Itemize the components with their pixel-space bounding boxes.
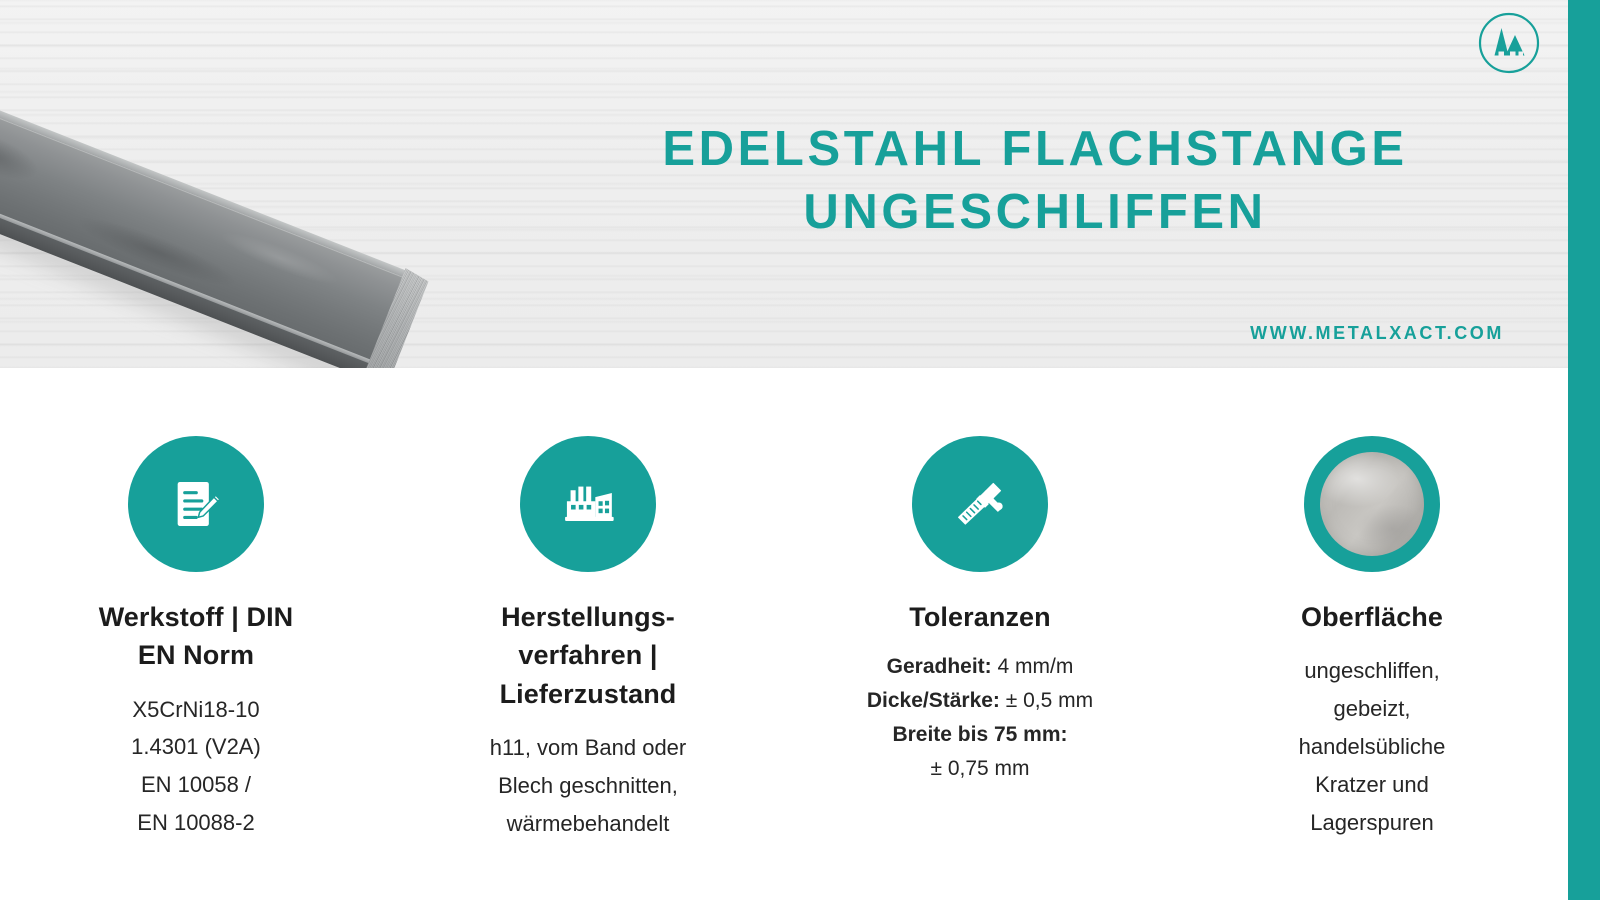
tolerance-row: ± 0,75 mm <box>867 752 1093 786</box>
tolerance-label: Breite bis 75 mm: <box>892 723 1067 746</box>
website-url[interactable]: WWW.METALXACT.COM <box>560 323 1504 344</box>
feature-body-line: EN 10088-2 <box>131 804 261 842</box>
tolerance-value: 4 mm/m <box>998 655 1074 678</box>
metalxact-logo[interactable] <box>1477 11 1541 75</box>
feature-title: Herstellungs- verfahren | Lieferzustand <box>500 598 677 713</box>
tolerance-value: ± 0,5 mm <box>1006 689 1093 712</box>
feature-body: ungeschliffen, gebeizt, handelsübliche K… <box>1299 652 1446 841</box>
feature-body-line: h11, vom Band oder <box>490 729 687 767</box>
feature-title-line: EN Norm <box>99 636 294 674</box>
feature-body: h11, vom Band oder Blech geschnitten, wä… <box>490 729 687 842</box>
feature-body-line: Kratzer und <box>1299 766 1446 804</box>
feature-body-line: X5CrNi18-10 <box>131 691 261 729</box>
feature-card-herstellungsverfahren: Herstellungs- verfahren | Lieferzustand … <box>392 368 784 900</box>
document-pencil-icon <box>128 436 264 572</box>
feature-title-line: Oberfläche <box>1301 598 1443 636</box>
surface-texture-swatch <box>1320 452 1424 556</box>
surface-texture-icon <box>1304 436 1440 572</box>
feature-body-line: Lagerspuren <box>1299 804 1446 842</box>
feature-columns: Werkstoff | DIN EN Norm X5CrNi18-10 1.43… <box>0 368 1568 900</box>
tolerance-row: Geradheit: 4 mm/m <box>867 650 1093 684</box>
feature-body-line: Blech geschnitten, <box>490 767 687 805</box>
page-title-line-1: EDELSTAHL FLACHSTANGE <box>560 118 1510 181</box>
feature-title: Oberfläche <box>1301 598 1443 636</box>
tolerance-value: ± 0,75 mm <box>930 757 1029 780</box>
feature-body-line: wärmebehandelt <box>490 805 687 843</box>
right-accent-stripe <box>1568 0 1600 900</box>
factory-icon <box>520 436 656 572</box>
feature-body-line: ungeschliffen, <box>1299 652 1446 690</box>
feature-body-line: 1.4301 (V2A) <box>131 728 261 766</box>
feature-body-line: handelsübliche <box>1299 728 1446 766</box>
feature-body: Geradheit: 4 mm/m Dicke/Stärke: ± 0,5 mm… <box>867 650 1093 786</box>
tolerance-label: Dicke/Stärke: <box>867 689 1000 712</box>
feature-title: Werkstoff | DIN EN Norm <box>99 598 294 675</box>
page-title: EDELSTAHL FLACHSTANGE UNGESCHLIFFEN <box>560 118 1510 243</box>
caliper-icon <box>912 436 1048 572</box>
tolerance-row: Breite bis 75 mm: <box>867 718 1093 752</box>
feature-card-oberflaeche: Oberfläche ungeschliffen, gebeizt, hande… <box>1176 368 1568 900</box>
tolerance-row: Dicke/Stärke: ± 0,5 mm <box>867 684 1093 718</box>
hero-banner: EDELSTAHL FLACHSTANGE UNGESCHLIFFEN WWW.… <box>0 0 1568 368</box>
feature-body: X5CrNi18-10 1.4301 (V2A) EN 10058 / EN 1… <box>131 691 261 842</box>
feature-title: Toleranzen <box>909 598 1051 636</box>
feature-title-line: Lieferzustand <box>500 675 677 713</box>
feature-body-line: gebeizt, <box>1299 690 1446 728</box>
feature-card-toleranzen: Toleranzen Geradheit: 4 mm/m Dicke/Stärk… <box>784 368 1176 900</box>
tolerance-label: Geradheit: <box>887 655 992 678</box>
feature-title-line: Toleranzen <box>909 598 1051 636</box>
feature-title-line: Herstellungs- <box>500 598 677 636</box>
page-title-line-2: UNGESCHLIFFEN <box>560 181 1510 244</box>
feature-title-line: Werkstoff | DIN <box>99 598 294 636</box>
feature-title-line: verfahren | <box>500 636 677 674</box>
feature-card-werkstoff: Werkstoff | DIN EN Norm X5CrNi18-10 1.43… <box>0 368 392 900</box>
feature-body-line: EN 10058 / <box>131 766 261 804</box>
